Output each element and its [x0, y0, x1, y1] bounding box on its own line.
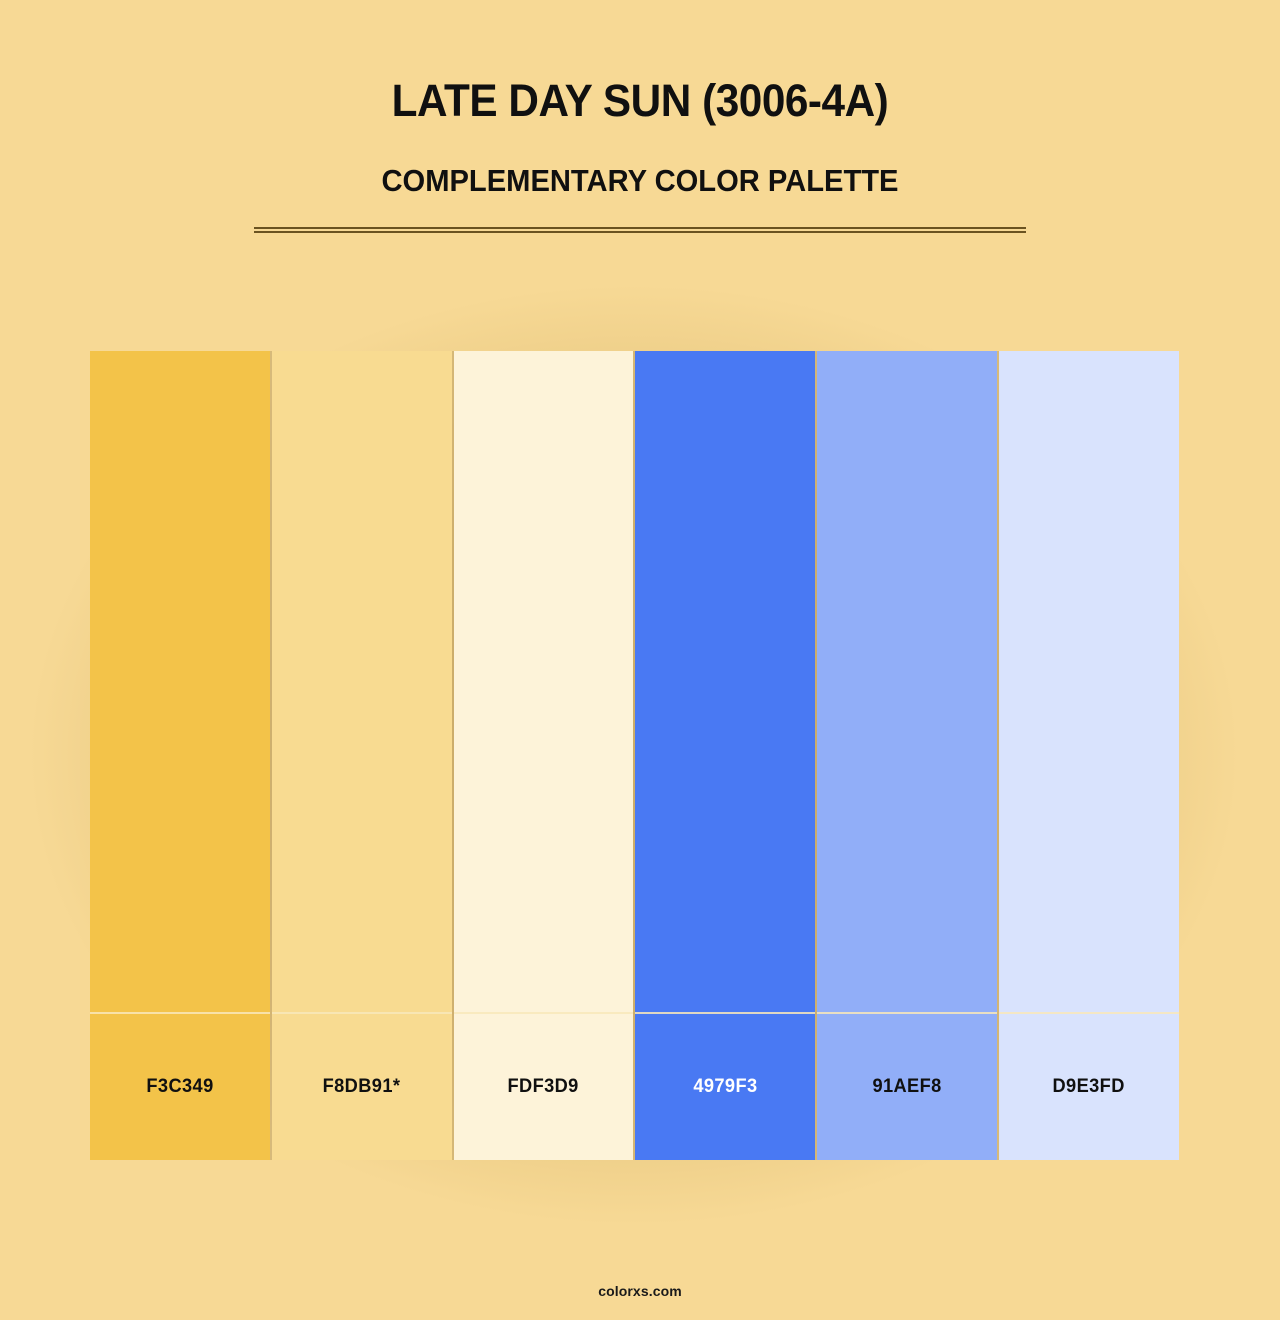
palette-page: LATE DAY SUN (3006-4A) COMPLEMENTARY COL…: [0, 0, 1280, 1320]
page-subtitle: COMPLEMENTARY COLOR PALETTE: [38, 165, 1241, 196]
color-swatch-fill[interactable]: [272, 351, 452, 1012]
color-hex-label: D9E3FD: [1053, 1076, 1125, 1098]
color-swatch-fill[interactable]: [999, 351, 1179, 1012]
color-palette: F3C349F8DB91*FDF3D94979F391AEF8D9E3FD: [90, 351, 1179, 1160]
color-swatch-fill[interactable]: [90, 351, 270, 1012]
color-swatch[interactable]: D9E3FD: [999, 351, 1179, 1160]
color-swatch-label-strip: 4979F3: [635, 1012, 815, 1160]
color-swatch-label-strip: F3C349: [90, 1012, 270, 1160]
color-hex-label: FDF3D9: [508, 1076, 579, 1098]
color-swatch[interactable]: FDF3D9: [454, 351, 636, 1160]
color-hex-label: F8DB91*: [323, 1076, 401, 1098]
color-swatch[interactable]: F3C349: [90, 351, 272, 1160]
color-swatch-label-strip: F8DB91*: [272, 1012, 452, 1160]
color-swatch-fill[interactable]: [635, 351, 815, 1012]
color-hex-label: F3C349: [146, 1076, 213, 1098]
color-hex-label: 4979F3: [693, 1076, 757, 1098]
footer: colorxs.com: [0, 1283, 1280, 1299]
title-divider: [254, 227, 1026, 233]
header: LATE DAY SUN (3006-4A) COMPLEMENTARY COL…: [0, 0, 1280, 233]
footer-site-name: colorxs.com: [0, 1283, 1280, 1299]
color-swatch-fill[interactable]: [454, 351, 634, 1012]
page-title: LATE DAY SUN (3006-4A): [38, 78, 1241, 123]
color-swatch[interactable]: 91AEF8: [817, 351, 999, 1160]
color-hex-label: 91AEF8: [873, 1076, 942, 1098]
color-swatch-fill[interactable]: [817, 351, 997, 1012]
color-swatch[interactable]: 4979F3: [635, 351, 817, 1160]
color-swatch-label-strip: FDF3D9: [454, 1012, 634, 1160]
color-swatch-label-strip: 91AEF8: [817, 1012, 997, 1160]
color-swatch-label-strip: D9E3FD: [999, 1012, 1179, 1160]
color-swatch[interactable]: F8DB91*: [272, 351, 454, 1160]
